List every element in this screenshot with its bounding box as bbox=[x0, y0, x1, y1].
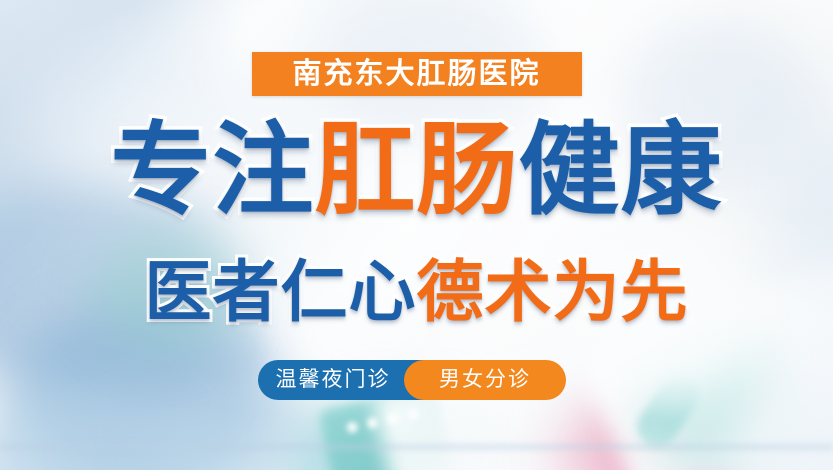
pill-gender-triage[interactable]: 男女分诊 bbox=[404, 360, 566, 400]
hospital-promo-banner: 南充东大肛肠医院 专注肛肠健康 医者仁心德术为先 温馨夜门诊 男女分诊 bbox=[0, 0, 833, 470]
headline-part-3: 健康 bbox=[519, 115, 723, 227]
headline: 专注肛肠健康 bbox=[0, 112, 833, 231]
service-pill-row: 温馨夜门诊 男女分诊 bbox=[0, 360, 833, 400]
headline-part-2: 肛肠 bbox=[314, 115, 518, 227]
hospital-name-badge: 南充东大肛肠医院 bbox=[252, 52, 582, 96]
subheadline: 医者仁心德术为先 bbox=[0, 253, 833, 333]
subheadline-part-2: 德术为先 bbox=[417, 255, 689, 330]
subheadline-part-1: 医者仁心 bbox=[145, 255, 417, 330]
banner-content: 南充东大肛肠医院 专注肛肠健康 医者仁心德术为先 温馨夜门诊 男女分诊 bbox=[0, 0, 833, 470]
headline-part-1: 专注 bbox=[110, 115, 314, 227]
